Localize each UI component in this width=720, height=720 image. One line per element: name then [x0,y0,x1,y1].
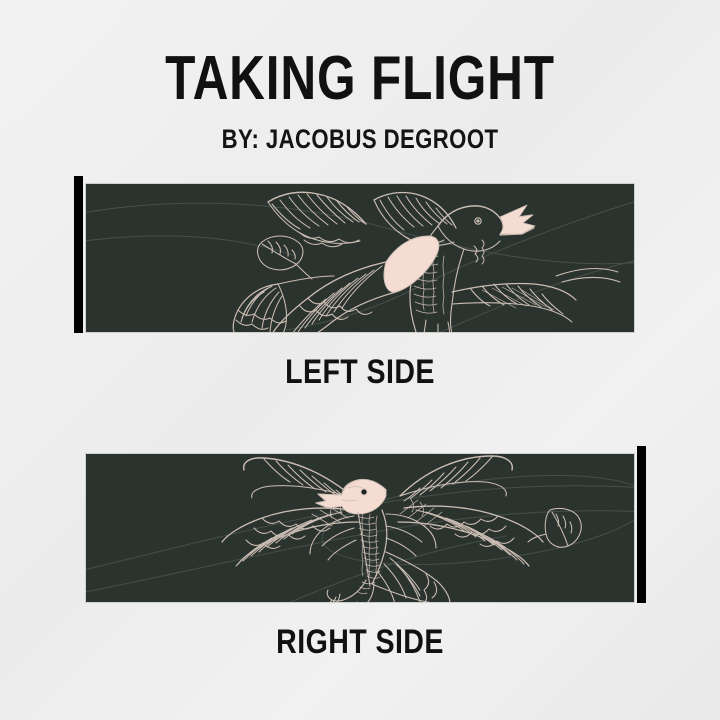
edge-bar-right [637,446,646,603]
panel-left-caption: LEFT SIDE [58,355,663,389]
byline: BY: JACOBUS DEGROOT [65,126,655,153]
panel-left: LEFT SIDE [0,176,720,389]
page-title: TAKING FLIGHT [72,48,648,110]
artwork-panel-right[interactable] [85,453,635,603]
edge-bar-left [74,176,83,333]
panel-right-caption: RIGHT SIDE [58,625,663,659]
artwork-panel-left[interactable] [85,183,635,333]
panel-right-wrap [85,446,635,603]
panel-right: RIGHT SIDE [0,446,720,659]
header: TAKING FLIGHT BY: JACOBUS DEGROOT [0,0,720,153]
eagle-landing-illustration [86,454,635,603]
poster-canvas: TAKING FLIGHT BY: JACOBUS DEGROOT [0,0,720,720]
panel-left-wrap [85,176,635,333]
magpie-taking-flight-illustration [86,184,635,333]
eye [361,489,367,495]
